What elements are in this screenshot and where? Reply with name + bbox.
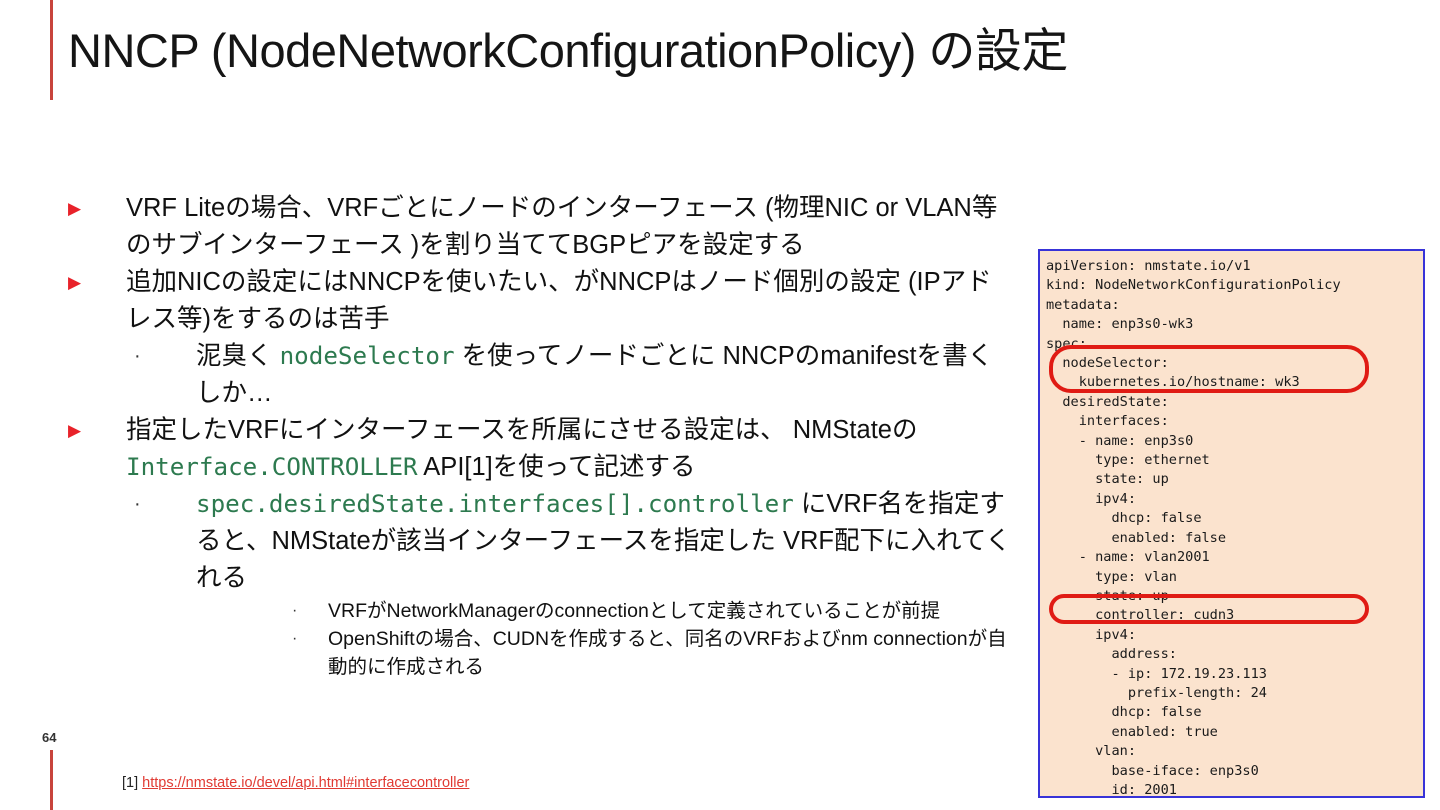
page-title: NNCP (NodeNetworkConfigurationPolicy) の設… xyxy=(68,16,1068,86)
bullet-marker-icon: · xyxy=(62,625,328,653)
bullet-marker-icon: · xyxy=(62,486,196,523)
bullet-text: VRFがNetworkManagerのconnectionとして定義されているこ… xyxy=(328,597,1012,625)
text-run: VRFがNetworkManagerのconnectionとして定義されているこ… xyxy=(328,600,940,622)
footnote: [1] https://nmstate.io/devel/api.html#in… xyxy=(122,775,469,791)
bullet-marker-icon: ▶ xyxy=(62,190,126,227)
text-run: OpenShiftの場合、CUDNを作成すると、同名のVRFおよびnm conn… xyxy=(328,628,1007,678)
bullet-text: OpenShiftの場合、CUDNを作成すると、同名のVRFおよびnm conn… xyxy=(328,625,1012,681)
bullet-text: spec.desiredState.interfaces[].controlle… xyxy=(196,486,1012,597)
title-accent-bar xyxy=(50,0,53,100)
bullet-text: 指定したVRFにインターフェースを所属にさせる設定は、 NMStateの Int… xyxy=(126,412,1012,486)
yaml-code-text: apiVersion: nmstate.io/v1 kind: NodeNetw… xyxy=(1046,257,1341,798)
footnote-link[interactable]: https://nmstate.io/devel/api.html#interf… xyxy=(142,775,469,791)
bullet-item-l3: ·OpenShiftの場合、CUDNを作成すると、同名のVRFおよびnm con… xyxy=(62,625,1012,681)
bullet-item-l1: ▶VRF Liteの場合、VRFごとにノードのインターフェース (物理NIC o… xyxy=(62,190,1012,264)
text-run: VRF Liteの場合、VRFごとにノードのインターフェース (物理NIC or… xyxy=(126,194,997,259)
page-number: 64 xyxy=(42,730,56,745)
bullet-text: 追加NICの設定にはNNCPを使いたい、がNNCPはノード個別の設定 (IPアド… xyxy=(126,264,1012,338)
bullet-marker-icon: · xyxy=(62,338,196,375)
bullet-item-l2: ·spec.desiredState.interfaces[].controll… xyxy=(62,486,1012,597)
bullet-item-l2: ·泥臭く nodeSelector を使ってノードごとに NNCPのmanife… xyxy=(62,338,1012,412)
bullet-text: 泥臭く nodeSelector を使ってノードごとに NNCPのmanifes… xyxy=(196,338,1012,412)
footnote-ref-label: [1] xyxy=(122,775,142,791)
inline-code: Interface.CONTROLLER xyxy=(126,453,418,481)
text-run: 泥臭く xyxy=(196,342,280,370)
inline-code: nodeSelector xyxy=(280,342,455,370)
bullet-marker-icon: ▶ xyxy=(62,412,126,449)
bullet-marker-icon: ▶ xyxy=(62,264,126,301)
bullet-item-l1: ▶指定したVRFにインターフェースを所属にさせる設定は、 NMStateの In… xyxy=(62,412,1012,486)
bullet-text: VRF Liteの場合、VRFごとにノードのインターフェース (物理NIC or… xyxy=(126,190,1012,264)
bullet-list: ▶VRF Liteの場合、VRFごとにノードのインターフェース (物理NIC o… xyxy=(62,190,1012,681)
bullet-marker-icon: · xyxy=(62,597,328,625)
bullet-item-l3: ·VRFがNetworkManagerのconnectionとして定義されている… xyxy=(62,597,1012,625)
inline-code: spec.desiredState.interfaces[].controlle… xyxy=(196,490,794,518)
text-run: API[1]を使って記述する xyxy=(418,453,696,481)
footer-accent-bar xyxy=(50,750,53,810)
bullet-item-l1: ▶追加NICの設定にはNNCPを使いたい、がNNCPはノード個別の設定 (IPア… xyxy=(62,264,1012,338)
text-run: 追加NICの設定にはNNCPを使いたい、がNNCPはノード個別の設定 (IPアド… xyxy=(126,268,992,333)
yaml-code-panel: apiVersion: nmstate.io/v1 kind: NodeNetw… xyxy=(1038,249,1425,798)
text-run: 指定したVRFにインターフェースを所属にさせる設定は、 NMStateの xyxy=(126,416,917,444)
